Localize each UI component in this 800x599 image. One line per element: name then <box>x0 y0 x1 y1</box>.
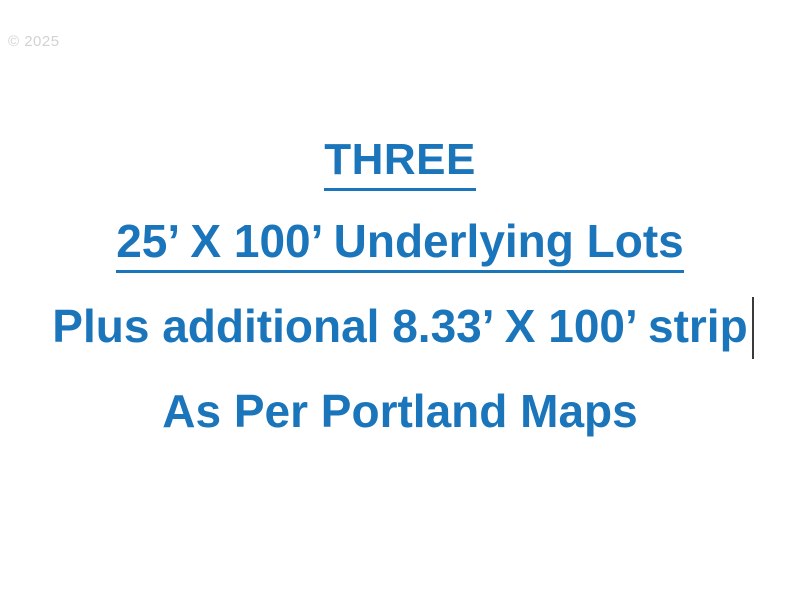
headline-three-label: THREE <box>324 138 476 191</box>
text-block: THREE 25’ X 100’ Underlying Lots Plus ad… <box>0 0 800 599</box>
source-attribution-line: As Per Portland Maps <box>0 388 800 434</box>
additional-strip-label: Plus additional 8.33’ X 100’ strip <box>52 303 747 349</box>
lot-dimensions-label: 25’ X 100’ Underlying Lots <box>116 218 684 273</box>
headline-three: THREE <box>0 138 800 191</box>
slide-canvas: © 2025 THREE 25’ X 100’ Underlying Lots … <box>0 0 800 599</box>
additional-strip-line: Plus additional 8.33’ X 100’ strip <box>0 303 800 349</box>
text-caret-icon <box>752 297 754 359</box>
lot-dimensions-line: 25’ X 100’ Underlying Lots <box>0 218 800 273</box>
source-attribution-label: As Per Portland Maps <box>162 388 637 434</box>
